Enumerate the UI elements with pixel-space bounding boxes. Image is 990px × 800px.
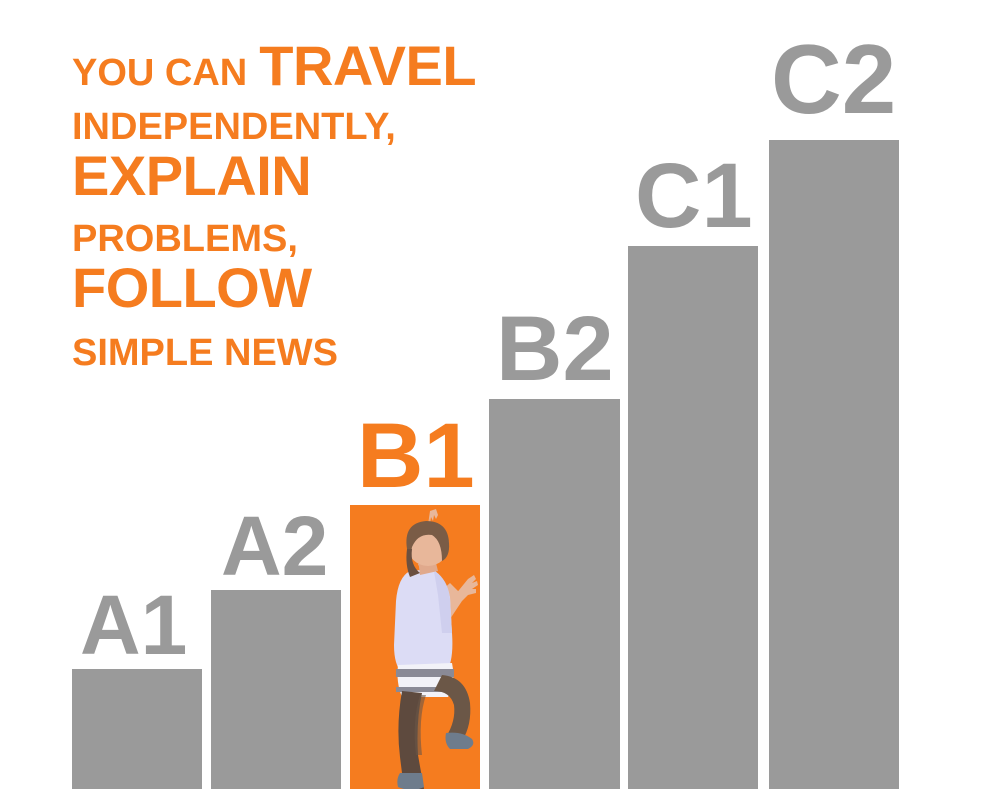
headline-line-2: INDEPENDENTLY, — [72, 108, 502, 146]
bar-c2 — [769, 140, 899, 789]
bar-label-c2: C2 — [771, 30, 896, 128]
bar-b2 — [489, 399, 620, 789]
bar-a2 — [211, 590, 341, 789]
headline-segment-simple-news: SIMPLE NEWS — [72, 334, 502, 372]
headline-segment-follow: FOLLOW — [72, 260, 502, 316]
bar-label-c1: C1 — [635, 150, 753, 242]
headline-segment-travel: TRAVEL — [259, 38, 476, 94]
headline-block: YOU CAN TRAVEL INDEPENDENTLY, EXPLAIN PR… — [72, 38, 502, 372]
infographic-canvas: A1 A2 — [0, 0, 990, 800]
headline-line-6: SIMPLE NEWS — [72, 334, 502, 372]
headline-line-4: PROBLEMS, — [72, 220, 502, 258]
rock-climber-icon — [350, 505, 480, 789]
bar-label-a1: A1 — [80, 583, 187, 667]
bar-label-b1: B1 — [357, 410, 475, 502]
headline-line-5: FOLLOW — [72, 260, 502, 316]
headline-line-3: EXPLAIN — [72, 148, 502, 204]
bar-a1 — [72, 669, 202, 789]
bar-c1 — [628, 246, 758, 789]
bar-label-b2: B2 — [496, 303, 614, 395]
headline-segment-independently: INDEPENDENTLY, — [72, 108, 502, 146]
bar-b1-highlighted — [350, 505, 480, 789]
headline-line-1: YOU CAN TRAVEL — [72, 38, 502, 94]
bar-label-a2: A2 — [221, 504, 328, 588]
headline-segment-you-can: YOU CAN — [72, 54, 247, 92]
headline-segment-problems: PROBLEMS, — [72, 220, 502, 258]
headline-segment-explain: EXPLAIN — [72, 148, 502, 204]
